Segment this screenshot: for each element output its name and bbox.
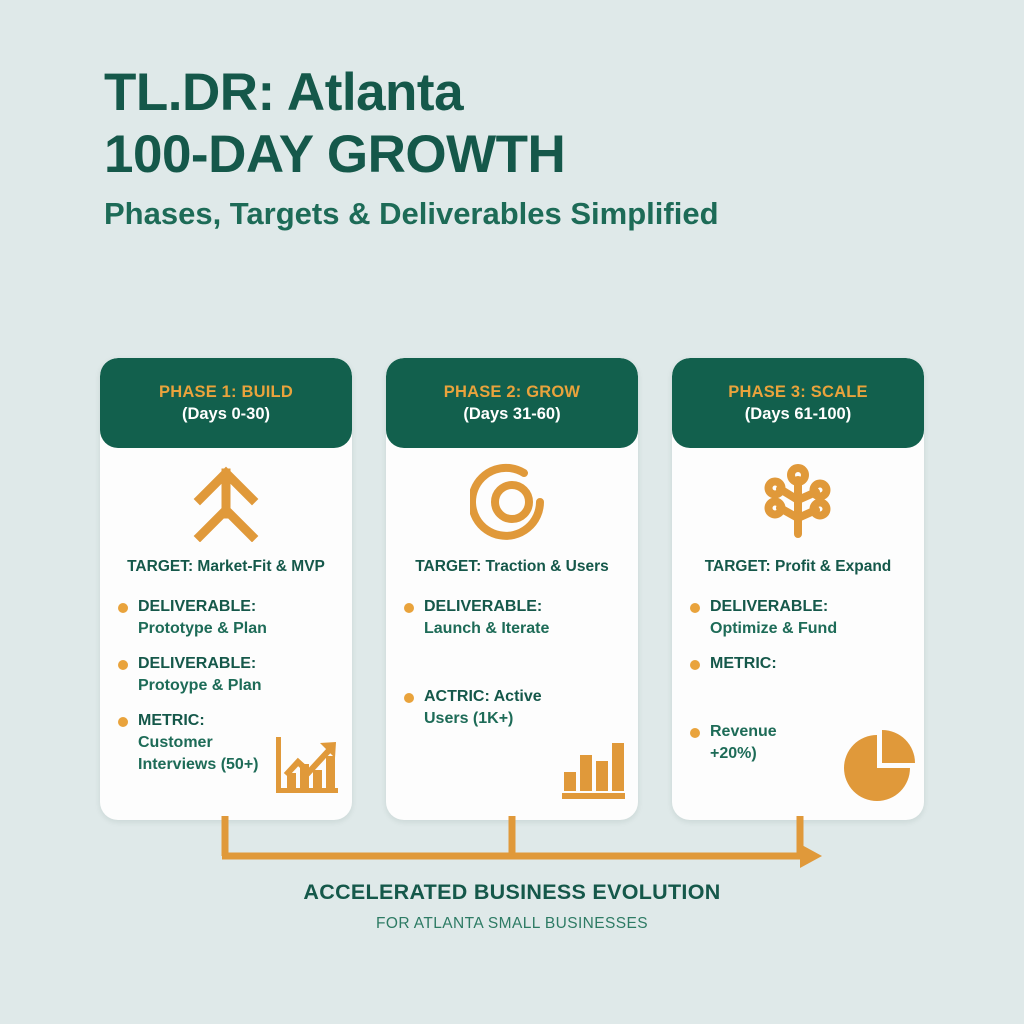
growth-tree-icon [672, 462, 924, 542]
bullet-dot-icon [404, 693, 414, 703]
bullet-heading: DELIVERABLE: [424, 596, 638, 618]
timeline-arrow-icon [0, 810, 1024, 880]
bullet-dot-icon [404, 603, 414, 613]
phase-card-2-body: TARGET: Traction & Users DELIVERABLE: La… [386, 448, 638, 820]
list-item: METRIC: [688, 653, 924, 675]
list-item: DELIVERABLE: Protoype & Plan [116, 653, 352, 697]
bullet-subtext: Prototype & Plan [138, 618, 352, 640]
bullet-dot-icon [118, 660, 128, 670]
page-header: TL.DR: Atlanta 100-DAY GROWTH Phases, Ta… [104, 62, 934, 236]
page-footer: ACCELERATED BUSINESS EVOLUTION FOR ATLAN… [0, 880, 1024, 933]
phase-card-2-header: PHASE 2: GROW (Days 31-60) [386, 358, 638, 448]
bullet-subtext: Protoype & Plan [138, 675, 352, 697]
list-item: DELIVERABLE: Launch & Iterate [402, 596, 638, 640]
bullet-heading: DELIVERABLE: [138, 596, 352, 618]
bullet-dot-icon [118, 717, 128, 727]
phase-card-1-body: TARGET: Market-Fit & MVP DELIVERABLE: Pr… [100, 448, 352, 820]
timeline-connector [0, 810, 1024, 880]
phase-card-2-target: TARGET: Traction & Users [386, 558, 638, 576]
phase-card-3-header: PHASE 3: SCALE (Days 61-100) [672, 358, 924, 448]
phase-card-3-target: TARGET: Profit & Expand [672, 558, 924, 576]
footer-subtext: FOR ATLANTA SMALL BUSINESSES [0, 915, 1024, 933]
target-ring-icon [386, 462, 638, 542]
growth-arrow-icon [100, 462, 352, 542]
phase-card-3-body: TARGET: Profit & Expand DELIVERABLE: Opt… [672, 448, 924, 820]
bar-chart-icon [556, 729, 630, 808]
bullet-dot-icon [690, 660, 700, 670]
bullet-dot-icon [690, 728, 700, 738]
phase-card-2-label: PHASE 2: GROW [444, 382, 580, 402]
bullet-heading: METRIC: [710, 653, 924, 675]
bullet-subtext: Launch & Iterate [424, 618, 638, 640]
bullet-subtext: Users (1K+) [424, 708, 638, 730]
phase-card-1-days: (Days 0-30) [182, 403, 270, 425]
page-subtitle: Phases, Targets & Deliverables Simplifie… [104, 192, 934, 236]
bullet-heading: ACTRIC: Active [424, 686, 638, 708]
phase-card-1-header: PHASE 1: BUILD (Days 0-30) [100, 358, 352, 448]
phase-card-1[interactable]: PHASE 1: BUILD (Days 0-30) TARGET: Marke… [100, 358, 352, 820]
phase-card-2[interactable]: PHASE 2: GROW (Days 31-60) TARGET: Tract… [386, 358, 638, 820]
phase-card-1-label: PHASE 1: BUILD [159, 382, 293, 402]
list-item: ACTRIC: Active Users (1K+) [402, 686, 638, 730]
phase-card-3-days: (Days 61-100) [745, 403, 851, 425]
phase-card-2-days: (Days 31-60) [463, 403, 560, 425]
bullet-heading: DELIVERABLE: [138, 653, 352, 675]
bullet-dot-icon [690, 603, 700, 613]
phase-cards-row: PHASE 1: BUILD (Days 0-30) TARGET: Marke… [100, 358, 924, 820]
phase-card-3-label: PHASE 3: SCALE [728, 382, 867, 402]
bullet-dot-icon [118, 603, 128, 613]
pie-chart-icon [842, 729, 916, 808]
growth-bar-chart-icon [270, 729, 344, 808]
phase-card-3[interactable]: PHASE 3: SCALE (Days 61-100) [672, 358, 924, 820]
page-title-line-1: TL.DR: Atlanta [104, 62, 934, 124]
page-title-line-2: 100-DAY GROWTH [104, 124, 934, 186]
list-item: DELIVERABLE: Optimize & Fund [688, 596, 924, 640]
bullet-subtext: Optimize & Fund [710, 618, 924, 640]
footer-headline: ACCELERATED BUSINESS EVOLUTION [0, 880, 1024, 905]
list-item: DELIVERABLE: Prototype & Plan [116, 596, 352, 640]
bullet-heading: DELIVERABLE: [710, 596, 924, 618]
phase-card-1-target: TARGET: Market-Fit & MVP [100, 558, 352, 576]
